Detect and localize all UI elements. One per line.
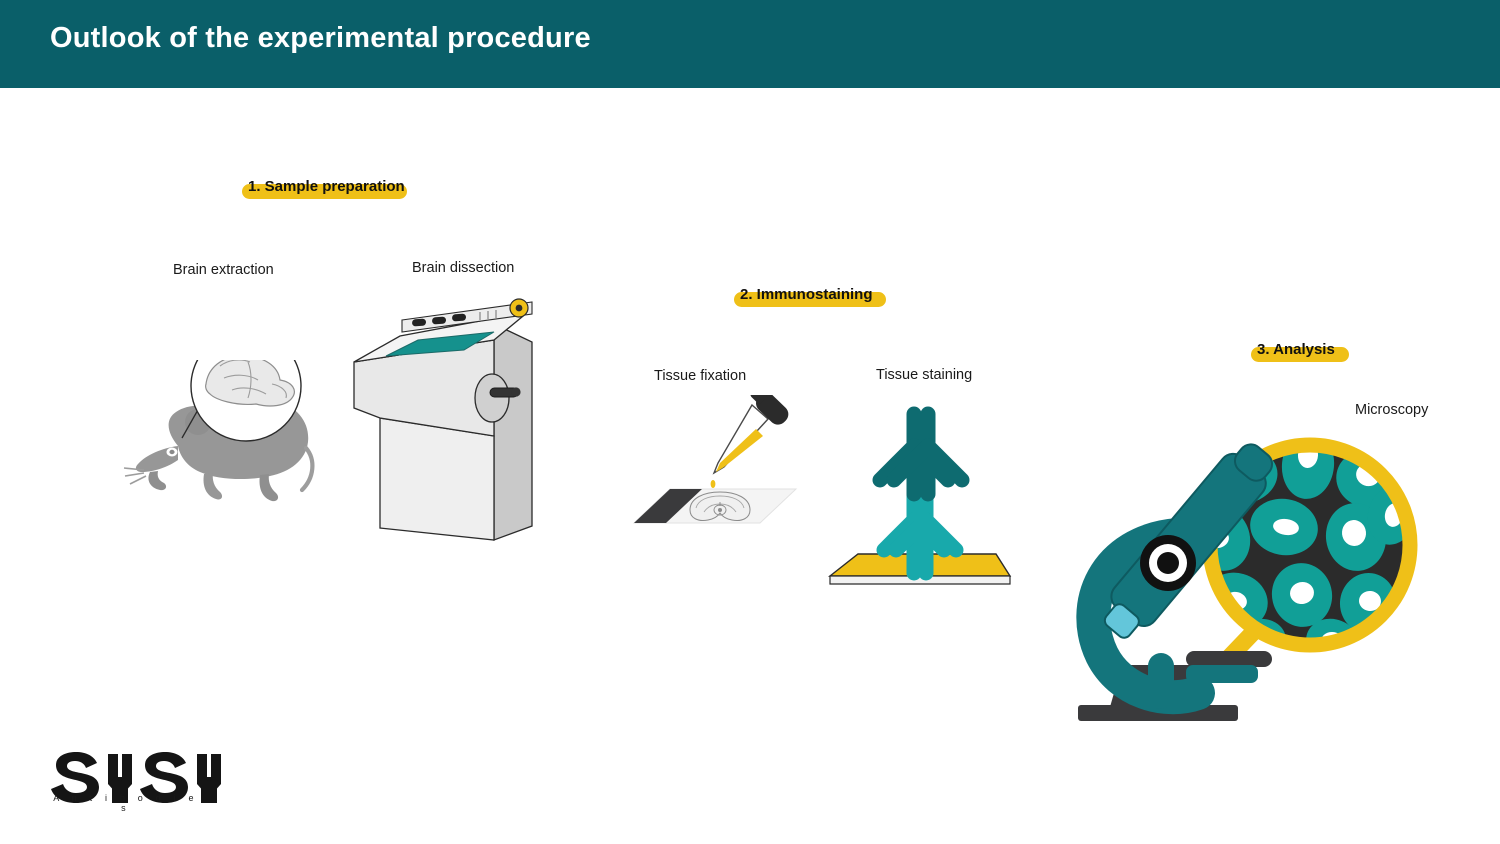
slide-with-pipette-illustration [600, 395, 800, 540]
step-label-brain-dissection: Brain dissection [412, 260, 514, 276]
antibody-stack-illustration [818, 398, 1018, 603]
page-title: Outlook of the experimental procedure [50, 22, 591, 55]
section-label-analysis: 3. Analysis [1257, 341, 1335, 359]
section-label-text: 3. Analysis [1257, 341, 1335, 358]
mouse-brain-extraction-illustration [120, 360, 330, 520]
slide-canvas: Outlook of the experimental procedure 1.… [0, 0, 1500, 844]
secondary-antibody [880, 414, 962, 494]
section-label-immunostaining: 2. Immunostaining [740, 286, 873, 304]
cryostat-machine-illustration [342, 296, 542, 544]
microscopy-illustration [1060, 415, 1440, 735]
section-label-text: 1. Sample preparation [248, 178, 405, 195]
section-label-text: 2. Immunostaining [740, 286, 873, 303]
slide-header: Outlook of the experimental procedure [0, 0, 1500, 88]
microscope-stage [1186, 651, 1272, 667]
step-label-tissue-fixation: Tissue fixation [654, 368, 746, 384]
step-label-brain-extraction: Brain extraction [173, 262, 274, 278]
logo-tagline: A n t i b o d i e s [46, 793, 206, 813]
section-label-sample-preparation: 1. Sample preparation [248, 178, 405, 196]
step-label-tissue-staining: Tissue staining [876, 367, 972, 383]
